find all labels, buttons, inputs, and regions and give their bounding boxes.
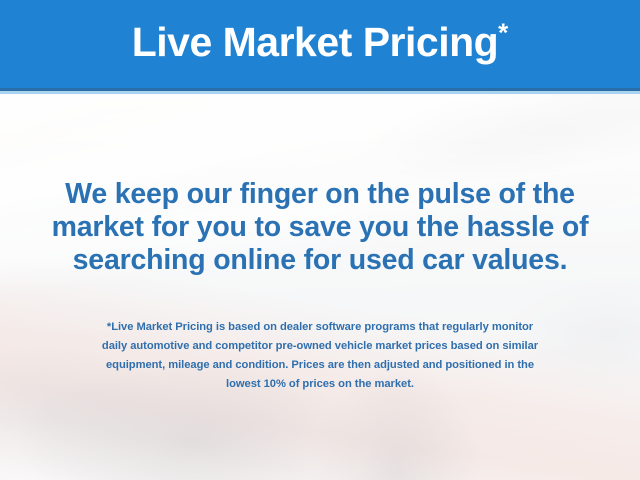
headline-line-1: We keep our finger on the pulse of the <box>22 178 618 211</box>
banner-title-asterisk: * <box>498 17 508 47</box>
header-banner: Live Market Pricing* <box>0 0 640 88</box>
disclaimer: *Live Market Pricing is based on dealer … <box>22 318 618 394</box>
disclaimer-line-2: daily automotive and competitor pre-owne… <box>22 337 618 356</box>
banner-title: Live Market Pricing* <box>132 22 509 66</box>
headline: We keep our finger on the pulse of the m… <box>22 178 618 277</box>
disclaimer-line-1: *Live Market Pricing is based on dealer … <box>22 318 618 337</box>
banner-bottom-edge-light <box>0 91 640 94</box>
headline-line-3: searching online for used car values. <box>22 244 618 277</box>
disclaimer-line-3: equipment, mileage and condition. Prices… <box>22 356 618 375</box>
banner-title-text: Live Market Pricing <box>132 19 498 65</box>
disclaimer-line-4: lowest 10% of prices on the market. <box>22 375 618 394</box>
live-market-pricing-poster: Live Market Pricing* We keep our finger … <box>0 0 640 480</box>
headline-line-2: market for you to save you the hassle of <box>22 211 618 244</box>
